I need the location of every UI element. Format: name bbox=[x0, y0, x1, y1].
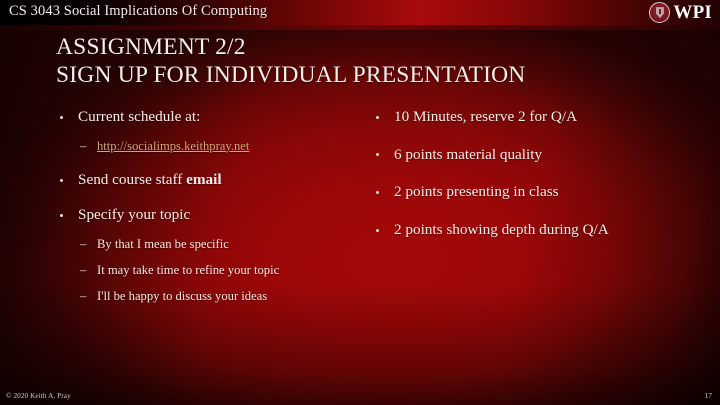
bullet-presenting-in-class: 2 points presenting in class bbox=[372, 183, 662, 202]
schedule-url-link[interactable]: http://socialimps.keithpray.net bbox=[97, 139, 249, 153]
slide-page-number: 17 bbox=[704, 391, 712, 400]
right-content-column: 10 Minutes, reserve 2 for Q/A 6 points m… bbox=[372, 108, 662, 239]
bullet-dot-icon bbox=[376, 191, 379, 194]
dash-bullet-icon: – bbox=[80, 237, 86, 252]
slide-title-line-2: SIGN UP FOR INDIVIDUAL PRESENTATION bbox=[56, 62, 676, 90]
sub-bullet-schedule-link: – http://socialimps.keithpray.net bbox=[56, 139, 356, 154]
dash-bullet-icon: – bbox=[80, 289, 86, 304]
bullet-text: 10 Minutes, reserve 2 for Q/A bbox=[394, 108, 577, 125]
bullet-text: Current schedule at: bbox=[78, 108, 200, 125]
bullet-dot-icon bbox=[60, 179, 63, 182]
bullet-text: 2 points showing depth during Q/A bbox=[394, 221, 609, 238]
bullet-text: Specify your topic bbox=[78, 206, 190, 223]
left-content-column: Current schedule at: – http://socialimps… bbox=[56, 108, 356, 304]
copyright-notice: © 2020 Keith A. Pray bbox=[6, 392, 71, 400]
sub-bullet-text: I'll be happy to discuss your ideas bbox=[97, 289, 267, 303]
wpi-logo-text: WPI bbox=[673, 3, 712, 22]
bullet-material-quality: 6 points material quality bbox=[372, 146, 662, 165]
bullet-text-prefix: Send course staff bbox=[78, 171, 186, 188]
slide-title: ASSIGNMENT 2/2 SIGN UP FOR INDIVIDUAL PR… bbox=[56, 34, 676, 90]
presentation-slide: CS 3043 Social Implications Of Computing… bbox=[0, 0, 720, 405]
dash-bullet-icon: – bbox=[80, 263, 86, 278]
bullet-current-schedule: Current schedule at: bbox=[56, 108, 356, 127]
wpi-logo: WPI bbox=[649, 1, 712, 24]
sub-bullet-be-specific: – By that I mean be specific bbox=[56, 237, 356, 252]
sub-bullet-refine-topic: – It may take time to refine your topic bbox=[56, 263, 356, 278]
slide-header-banner: CS 3043 Social Implications Of Computing… bbox=[0, 0, 720, 25]
bullet-depth-during-qa: 2 points showing depth during Q/A bbox=[372, 221, 662, 240]
sub-bullet-text: By that I mean be specific bbox=[97, 237, 229, 251]
sub-bullet-discuss-ideas: – I'll be happy to discuss your ideas bbox=[56, 289, 356, 304]
course-title: CS 3043 Social Implications Of Computing bbox=[9, 3, 267, 20]
bullet-text: 2 points presenting in class bbox=[394, 183, 559, 200]
bullet-dot-icon bbox=[60, 214, 63, 217]
bullet-ten-minutes: 10 Minutes, reserve 2 for Q/A bbox=[372, 108, 662, 127]
wpi-seal-icon bbox=[649, 2, 670, 23]
slide-title-line-1: ASSIGNMENT 2/2 bbox=[56, 34, 676, 62]
bullet-send-email: Send course staff email bbox=[56, 171, 356, 190]
bullet-dot-icon bbox=[376, 153, 379, 156]
bullet-text: 6 points material quality bbox=[394, 146, 542, 163]
dash-bullet-icon: – bbox=[80, 139, 86, 154]
header-underline-strip bbox=[0, 25, 720, 30]
bullet-dot-icon bbox=[376, 116, 379, 119]
bullet-text-emphasis: email bbox=[186, 171, 221, 188]
bullet-specify-topic: Specify your topic bbox=[56, 206, 356, 225]
bullet-dot-icon bbox=[376, 229, 379, 232]
bullet-dot-icon bbox=[60, 116, 63, 119]
sub-bullet-text: It may take time to refine your topic bbox=[97, 263, 279, 277]
